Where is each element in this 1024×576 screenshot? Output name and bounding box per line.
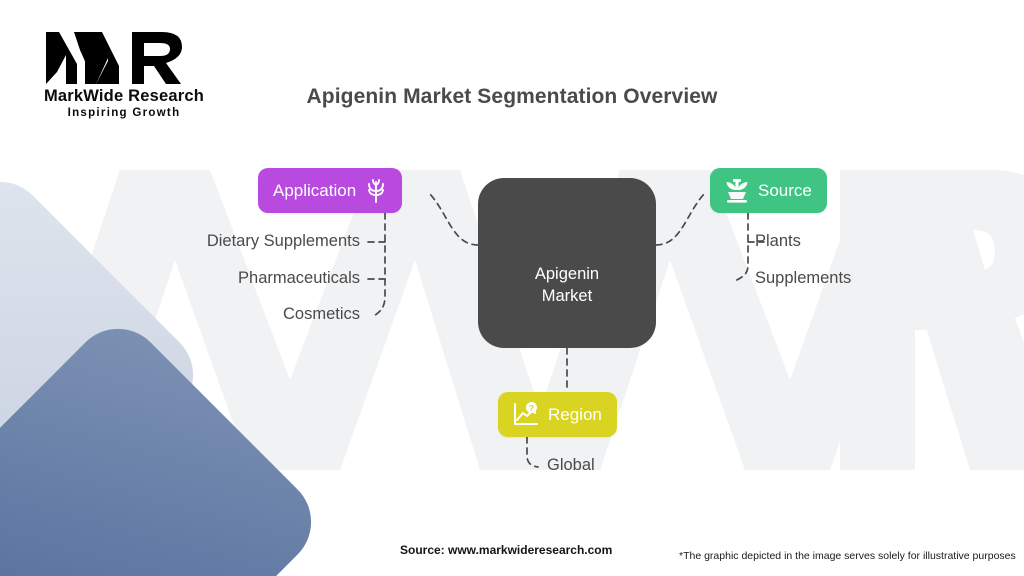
page-title: Apigenin Market Segmentation Overview xyxy=(0,85,1024,109)
footer-source: Source: www.markwideresearch.com xyxy=(400,543,612,557)
branch-label-source: Source xyxy=(758,181,812,201)
center-node-label: Apigenin Market xyxy=(535,219,599,308)
leaf-label-dietary-supplements[interactable]: Dietary Supplements xyxy=(98,232,360,251)
connector-center-source xyxy=(656,192,706,245)
leaf-label-global[interactable]: Global xyxy=(547,456,595,475)
decorative-square-light xyxy=(0,163,212,576)
branch-badge-source[interactable]: Source xyxy=(710,168,827,213)
branch-label-application: Application xyxy=(273,181,356,201)
infographic-canvas: MarkWide Research Inspiring Growth Apige… xyxy=(0,0,1024,576)
leaf-label-plants[interactable]: Plants xyxy=(755,232,801,251)
growth-chart-globe-icon: ? xyxy=(513,402,539,427)
center-node-label-line1: Apigenin xyxy=(535,265,599,283)
branch-badge-application[interactable]: Application xyxy=(258,168,402,213)
connector-application-spine xyxy=(374,213,385,316)
branch-badge-region[interactable]: ? Region xyxy=(498,392,617,437)
connector-center-application xyxy=(428,192,478,245)
branch-label-region: Region xyxy=(548,405,602,425)
leaf-label-pharmaceuticals[interactable]: Pharmaceuticals xyxy=(98,269,360,288)
footer-disclaimer: *The graphic depicted in the image serve… xyxy=(679,550,1016,562)
coral-branch-icon xyxy=(365,179,387,203)
svg-text:?: ? xyxy=(529,403,534,413)
connector-source-spine xyxy=(735,213,748,281)
decorative-square-dark xyxy=(0,310,330,576)
leaf-label-supplements[interactable]: Supplements xyxy=(755,269,851,288)
center-node-label-line2: Market xyxy=(542,287,592,305)
center-node[interactable]: Apigenin Market xyxy=(478,178,656,348)
seedling-plant-icon xyxy=(725,178,749,204)
connector-region-spine xyxy=(527,437,538,467)
mwr-monogram-icon xyxy=(44,28,204,86)
leaf-label-cosmetics[interactable]: Cosmetics xyxy=(98,305,360,324)
